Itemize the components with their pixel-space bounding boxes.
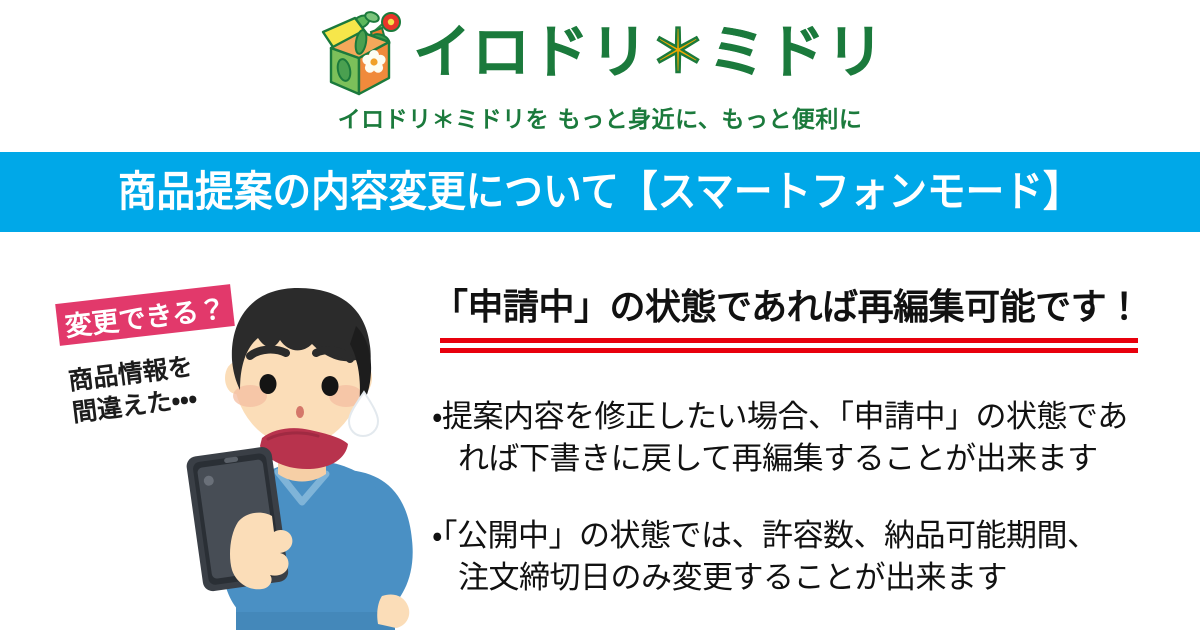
page-title: 商品提案の内容変更について【スマートフォンモード】 xyxy=(118,171,1082,213)
main-text-block: 「申請中」の状態であれば再編集可能です！ ・提案内容を修正したい場合、「申請中」… xyxy=(432,285,1182,599)
bullet-item-1: ・提案内容を修正したい場合、「申請中」の状態であ れば下書きに戻して再編集するこ… xyxy=(432,397,1182,480)
brand-tagline: イロドリ＊ミドリを もっと身近に、もっと便利に xyxy=(0,100,1200,134)
gift-box-with-flower-icon xyxy=(315,8,407,96)
brand-wordmark-star: ＊ xyxy=(649,18,708,86)
brand-logo[interactable]: イロドリ＊ミドリ xyxy=(0,6,1200,98)
bullet-item-2-line-2: 注文締切日のみ変更することが出来ます xyxy=(432,558,1182,600)
brand-wordmark-part1: イロドリ xyxy=(413,18,649,86)
title-banner: 商品提案の内容変更について【スマートフォンモード】 xyxy=(0,152,1200,232)
main-headline: 「申請中」の状態であれば再編集可能です！ xyxy=(432,285,1182,330)
brand-wordmark-part2: ミドリ xyxy=(708,18,885,86)
bullet-item-1-line-1: ・提案内容を修正したい場合、「申請中」の状態であ xyxy=(432,399,1128,435)
page-header: イロドリ＊ミドリ イロドリ＊ミドリを もっと身近に、もっと便利に xyxy=(0,0,1200,152)
bullet-item-1-line-2: れば下書きに戻して再編集することが出来ます xyxy=(432,439,1182,481)
bullet-item-2: ・「公開中」の状態では、許容数、納品可能期間、 注文締切日のみ変更することが出来… xyxy=(432,516,1182,599)
headline-underline-bottom xyxy=(440,348,1138,353)
brand-wordmark: イロドリ＊ミドリ xyxy=(413,23,885,81)
bullet-item-2-line-1: ・「公開中」の状態では、許容数、納品可能期間、 xyxy=(432,518,1098,554)
headline-underline-top xyxy=(440,338,1138,343)
headline-underline xyxy=(440,338,1138,353)
